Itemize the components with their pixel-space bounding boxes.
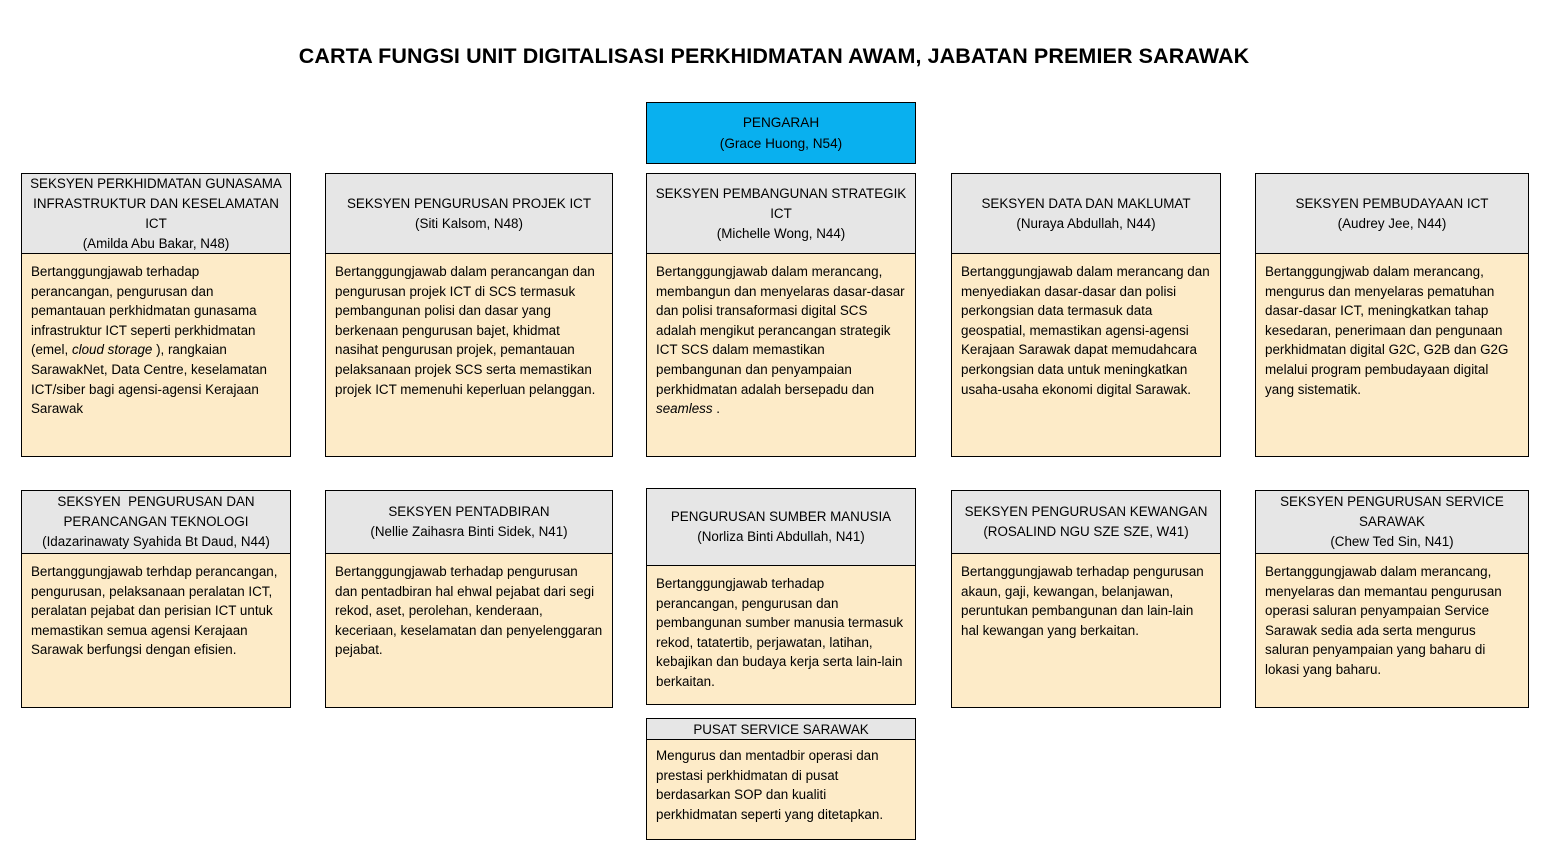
section-header: SEKSYEN PEMBANGUNAN STRATEGIK ICT (Miche… xyxy=(647,174,915,254)
section-holder: (ROSALIND NGU SZE SZE, W41) xyxy=(983,522,1188,542)
section-description: Bertanggungjawab dalam merancang dan men… xyxy=(952,254,1220,456)
section-box-pusat-service-sarawak[interactable]: PUSAT SERVICE SARAWAK Mengurus dan menta… xyxy=(646,718,916,840)
section-holder: (Nellie Zaihasra Binti Sidek, N41) xyxy=(370,522,567,542)
section-title: SEKSYEN DATA DAN MAKLUMAT xyxy=(981,194,1190,214)
section-header: PENGURUSAN SUMBER MANUSIA (Norliza Binti… xyxy=(647,489,915,566)
section-holder: (Audrey Jee, N44) xyxy=(1338,214,1447,234)
section-header: SEKSYEN PENGURUSAN SERVICE SARAWAK (Chew… xyxy=(1256,491,1528,554)
section-box-pengurusan-kewangan[interactable]: SEKSYEN PENGURUSAN KEWANGAN (ROSALIND NG… xyxy=(951,490,1221,708)
section-box-pengurusan-sumber-manusia[interactable]: PENGURUSAN SUMBER MANUSIA (Norliza Binti… xyxy=(646,488,916,705)
section-description: Mengurus dan mentadbir operasi dan prest… xyxy=(647,740,915,839)
director-holder: (Grace Huong, N54) xyxy=(720,133,842,154)
section-description: Bertanggungjawab terhadap pengurusan dan… xyxy=(326,554,612,707)
section-description: Bertanggungjawab dalam perancangan dan p… xyxy=(326,254,612,456)
section-holder: (Michelle Wong, N44) xyxy=(717,224,846,244)
section-description: Bertanggungjwab dalam merancang, menguru… xyxy=(1256,254,1528,456)
section-box-pentadbiran[interactable]: SEKSYEN PENTADBIRAN (Nellie Zaihasra Bin… xyxy=(325,490,613,708)
section-box-pengurusan-service-sarawak[interactable]: SEKSYEN PENGURUSAN SERVICE SARAWAK (Chew… xyxy=(1255,490,1529,708)
section-header: SEKSYEN DATA DAN MAKLUMAT (Nuraya Abdull… xyxy=(952,174,1220,254)
section-title: SEKSYEN PENGURUSAN KEWANGAN xyxy=(965,502,1208,522)
section-box-data-dan-maklumat[interactable]: SEKSYEN DATA DAN MAKLUMAT (Nuraya Abdull… xyxy=(951,173,1221,457)
section-header: SEKSYEN PERKHIDMATAN GUNASAMA INFRASTRUK… xyxy=(22,174,290,254)
section-description: Bertanggungjawab terhadap pengurusan aka… xyxy=(952,554,1220,707)
director-box[interactable]: PENGARAH (Grace Huong, N54) xyxy=(646,102,916,164)
section-title: PUSAT SERVICE SARAWAK xyxy=(693,720,868,739)
section-title: PENGURUSAN SUMBER MANUSIA xyxy=(671,507,891,527)
section-header: SEKSYEN PENTADBIRAN (Nellie Zaihasra Bin… xyxy=(326,491,612,554)
director-role: PENGARAH xyxy=(743,112,819,133)
section-holder: (Amilda Abu Bakar, N48) xyxy=(83,234,230,254)
section-title: SEKSYEN PENGURUSAN DAN PERANCANGAN TEKNO… xyxy=(57,492,254,532)
section-title: SEKSYEN PERKHIDMATAN GUNASAMA INFRASTRUK… xyxy=(30,174,282,234)
section-box-pengurusan-perancangan-teknologi[interactable]: SEKSYEN PENGURUSAN DAN PERANCANGAN TEKNO… xyxy=(21,490,291,708)
section-title: SEKSYEN PEMBUDAYAAN ICT xyxy=(1296,194,1489,214)
section-description: Bertanggungjawab dalam merancang, menyel… xyxy=(1256,554,1528,707)
italic-term: seamless xyxy=(656,401,713,416)
section-header: SEKSYEN PENGURUSAN DAN PERANCANGAN TEKNO… xyxy=(22,491,290,554)
section-title: SEKSYEN PENTADBIRAN xyxy=(388,502,549,522)
section-header: PUSAT SERVICE SARAWAK xyxy=(647,719,915,740)
section-box-pembangunan-strategik-ict[interactable]: SEKSYEN PEMBANGUNAN STRATEGIK ICT (Miche… xyxy=(646,173,916,457)
section-description: Bertanggungjawab terhdap perancangan, pe… xyxy=(22,554,290,707)
section-holder: (Idazarinawaty Syahida Bt Daud, N44) xyxy=(42,532,270,552)
section-holder: (Nuraya Abdullah, N44) xyxy=(1016,214,1155,234)
section-box-pembudayaan-ict[interactable]: SEKSYEN PEMBUDAYAAN ICT (Audrey Jee, N44… xyxy=(1255,173,1529,457)
section-title: SEKSYEN PENGURUSAN SERVICE SARAWAK xyxy=(1280,492,1504,532)
italic-term: cloud storage xyxy=(72,342,152,357)
section-description: Bertanggungjawab terhadap perancangan, p… xyxy=(22,254,290,456)
section-description: Bertanggungjawab dalam merancang, memban… xyxy=(647,254,915,456)
section-holder: (Norliza Binti Abdullah, N41) xyxy=(697,527,864,547)
section-holder: (Chew Ted Sin, N41) xyxy=(1330,532,1453,552)
section-header: SEKSYEN PENGURUSAN KEWANGAN (ROSALIND NG… xyxy=(952,491,1220,554)
section-header: SEKSYEN PENGURUSAN PROJEK ICT (Siti Kals… xyxy=(326,174,612,254)
section-title: SEKSYEN PEMBANGUNAN STRATEGIK ICT xyxy=(655,184,907,224)
section-header: SEKSYEN PEMBUDAYAAN ICT (Audrey Jee, N44… xyxy=(1256,174,1528,254)
section-description: Bertanggungjawab terhadap perancangan, p… xyxy=(647,566,915,704)
page-title: CARTA FUNGSI UNIT DIGITALISASI PERKHIDMA… xyxy=(0,44,1548,69)
org-chart-canvas: CARTA FUNGSI UNIT DIGITALISASI PERKHIDMA… xyxy=(0,0,1548,857)
section-box-perkhidmatan-gunasama[interactable]: SEKSYEN PERKHIDMATAN GUNASAMA INFRASTRUK… xyxy=(21,173,291,457)
section-holder: (Siti Kalsom, N48) xyxy=(415,214,523,234)
section-box-pengurusan-projek-ict[interactable]: SEKSYEN PENGURUSAN PROJEK ICT (Siti Kals… xyxy=(325,173,613,457)
section-title: SEKSYEN PENGURUSAN PROJEK ICT xyxy=(347,194,591,214)
